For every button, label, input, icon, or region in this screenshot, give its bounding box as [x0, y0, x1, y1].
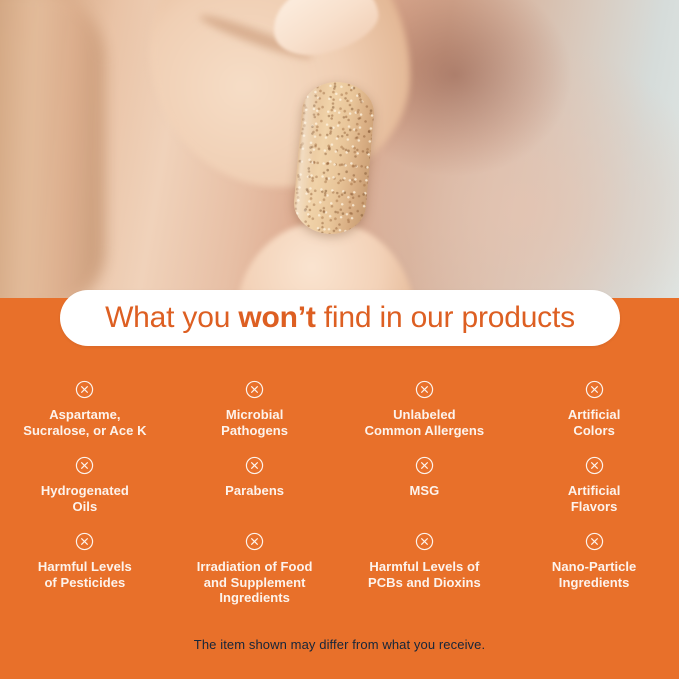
exclusion-label: UnlabeledCommon Allergens	[365, 407, 485, 438]
circle-x-icon	[75, 532, 94, 551]
supplement-tablet	[292, 79, 377, 237]
circle-x-icon	[585, 380, 604, 399]
exclusions-grid: Aspartame,Sucralose, or Ace K MicrobialP…	[0, 370, 679, 606]
exclusion-label: Harmful Levels ofPCBs and Dioxins	[368, 559, 481, 590]
title-text-after: find in our products	[316, 301, 575, 334]
circle-x-icon	[75, 456, 94, 475]
circle-x-icon	[415, 380, 434, 399]
exclusion-label: ArtificialFlavors	[568, 483, 621, 514]
exclusion-item: Harmful Levelsof Pesticides	[0, 514, 170, 606]
panel-title-pill: What you won’t find in our products	[60, 290, 620, 346]
exclusions-panel: What you won’t find in our products Aspa…	[0, 298, 679, 679]
exclusions-row: HydrogenatedOils Parabens MSG	[0, 438, 679, 514]
exclusion-item: Harmful Levels ofPCBs and Dioxins	[340, 514, 510, 606]
disclaimer-text: The item shown may differ from what you …	[0, 637, 679, 652]
exclusion-item: Aspartame,Sucralose, or Ace K	[0, 370, 170, 438]
circle-x-icon	[585, 532, 604, 551]
circle-x-icon	[75, 380, 94, 399]
exclusions-row: Aspartame,Sucralose, or Ace K MicrobialP…	[0, 370, 679, 438]
circle-x-icon	[245, 456, 264, 475]
background-finger	[0, 0, 105, 300]
exclusion-item: Irradiation of Foodand SupplementIngredi…	[170, 514, 340, 606]
title-text-emphasis: won’t	[238, 301, 315, 334]
exclusion-item: ArtificialColors	[509, 370, 679, 438]
exclusion-label: HydrogenatedOils	[41, 483, 129, 514]
exclusion-label: ArtificialColors	[568, 407, 621, 438]
page-title: What you won’t find in our products	[105, 301, 575, 335]
exclusion-label: Parabens	[225, 483, 284, 499]
exclusion-item: Nano-ParticleIngredients	[509, 514, 679, 606]
exclusion-item: MicrobialPathogens	[170, 370, 340, 438]
exclusions-row: Harmful Levelsof Pesticides Irradiation …	[0, 514, 679, 606]
circle-x-icon	[585, 456, 604, 475]
exclusion-item: ArtificialFlavors	[509, 438, 679, 514]
circle-x-icon	[245, 380, 264, 399]
title-text-before: What you	[105, 301, 238, 334]
exclusion-label: MicrobialPathogens	[221, 407, 288, 438]
exclusion-label: MSG	[409, 483, 439, 499]
circle-x-icon	[415, 456, 434, 475]
exclusion-label: Irradiation of Foodand SupplementIngredi…	[197, 559, 313, 606]
hero-product-photo	[0, 0, 679, 300]
exclusion-item: Parabens	[170, 438, 340, 514]
exclusion-label: Nano-ParticleIngredients	[552, 559, 636, 590]
product-info-card: What you won’t find in our products Aspa…	[0, 0, 679, 679]
exclusion-label: Aspartame,Sucralose, or Ace K	[23, 407, 146, 438]
exclusion-item: MSG	[340, 438, 510, 514]
exclusion-item: HydrogenatedOils	[0, 438, 170, 514]
circle-x-icon	[245, 532, 264, 551]
circle-x-icon	[415, 532, 434, 551]
exclusion-item: UnlabeledCommon Allergens	[340, 370, 510, 438]
exclusion-label: Harmful Levelsof Pesticides	[38, 559, 132, 590]
